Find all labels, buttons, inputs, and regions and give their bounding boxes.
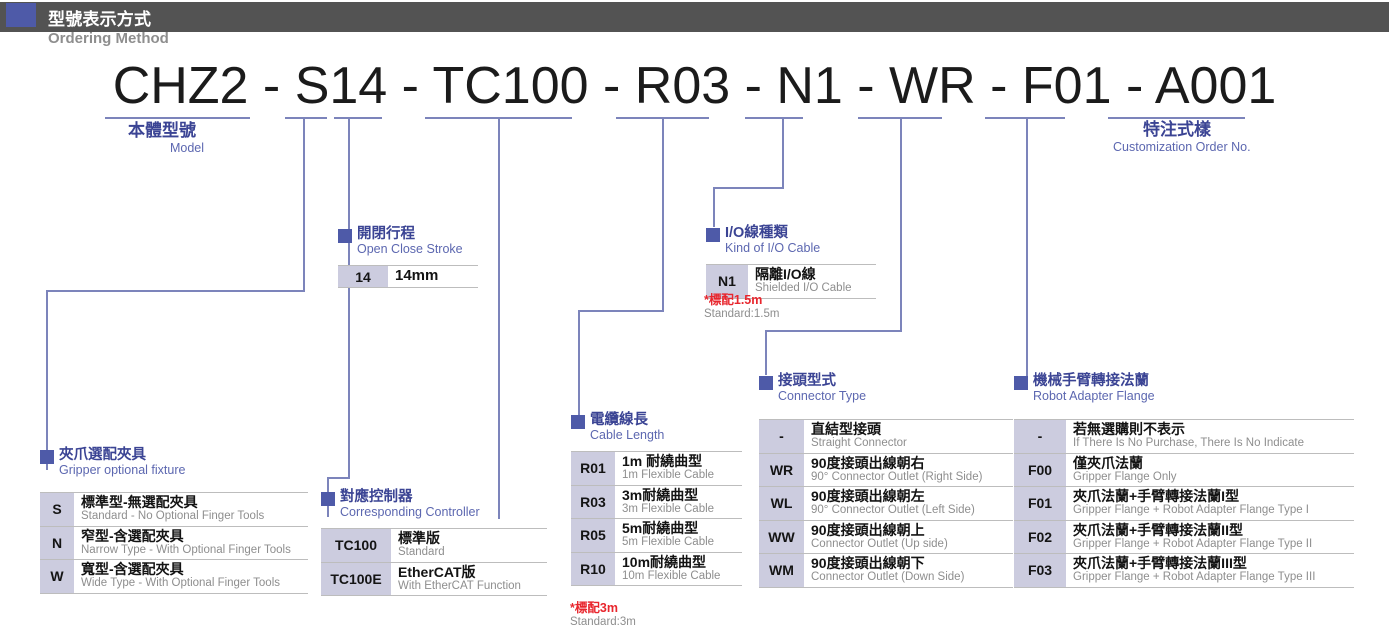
callout-cable-title-zh: 電纜線長 [590,413,664,428]
section-header-bar [0,2,1389,32]
cable-desc-1: 3m耐繞曲型 3m Flexible Cable [615,485,742,519]
table-row: WL 90度接頭出線朝左 90° Connector Outlet (Left … [759,487,1013,521]
gripper-desc-2: 寬型-含選配夾具 Wide Type - With Optional Finge… [74,560,308,594]
cable-desc-en-2: 5m Flexible Cable [622,536,737,548]
table-row: R10 10m耐繞曲型 10m Flexible Cable [571,552,742,586]
table-cable-body: R01 1m 耐繞曲型 1m Flexible Cable R03 3m耐繞曲型… [571,452,742,586]
connector-desc-en-4: Connector Outlet (Down Side) [811,571,1008,583]
table-gripper-fixture: S 標準型-無選配夾具 Standard - No Optional Finge… [40,492,308,594]
flange-desc-en-0: If There Is No Purchase, There Is No Ind… [1073,437,1349,449]
leader-tc100-v [498,117,500,519]
flange-code-4: F03 [1014,554,1066,588]
callout-connector-type: 接頭型式 Connector Type [759,374,866,404]
gripper-code-0: S [40,493,74,527]
bullet-square-icon [571,415,585,429]
leader-14-v [348,117,350,235]
leader-f01-v [1026,117,1028,380]
table-row: R05 5m耐繞曲型 5m Flexible Cable [571,519,742,553]
controller-code-1: TC100E [321,562,391,596]
io-desc-zh-0: 隔離I/O線 [755,267,871,282]
table-row: TC100 標準版 Standard [321,529,547,563]
table-row: WR 90度接頭出線朝右 90° Connector Outlet (Right… [759,453,1013,487]
bullet-square-icon [338,229,352,243]
leader-n1-v2 [713,187,715,227]
leader-n1-h [713,187,784,189]
callout-connector-title-en: Connector Type [778,389,866,404]
flange-desc-en-2: Gripper Flange + Robot Adapter Flange Ty… [1073,504,1349,516]
table-connector-body: - 直結型接頭 Straight Connector WR 90度接頭出線朝右 … [759,420,1013,588]
cable-code-2: R05 [571,519,615,553]
table-controller: TC100 標準版 Standard TC100E EtherCAT版 With… [321,528,547,596]
table-row: N 窄型-含選配夾具 Narrow Type - With Optional F… [40,526,308,560]
connector-desc-zh-3: 90度接頭出線朝上 [811,523,1008,538]
bullet-square-icon [321,492,335,506]
callout-io-cable: I/O線種類 Kind of I/O Cable [706,226,820,256]
connector-desc-2: 90度接頭出線朝左 90° Connector Outlet (Left Sid… [804,487,1013,521]
table-connector-type: - 直結型接頭 Straight Connector WR 90度接頭出線朝右 … [759,419,1013,588]
flange-desc-zh-3: 夾爪法蘭+手臂轉接法蘭II型 [1073,523,1349,538]
stroke-desc-0: 14mm [388,266,478,288]
bullet-square-icon [706,228,720,242]
cable-desc-3: 10m耐繞曲型 10m Flexible Cable [615,552,742,586]
cable-desc-en-0: 1m Flexible Cable [622,469,737,481]
stroke-code-0: 14 [338,266,388,288]
controller-desc-0: 標準版 Standard [391,529,547,563]
table-row: S 標準型-無選配夾具 Standard - No Optional Finge… [40,493,308,527]
table-row: F02 夾爪法蘭+手臂轉接法蘭II型 Gripper Flange + Robo… [1014,520,1354,554]
controller-desc-en-1: With EtherCAT Function [398,580,542,592]
flange-desc-1: 僅夾爪法蘭 Gripper Flange Only [1066,453,1354,487]
leader-r03-v2 [578,310,580,415]
cable-desc-en-3: 10m Flexible Cable [622,570,737,582]
table-row: R03 3m耐繞曲型 3m Flexible Cable [571,485,742,519]
callout-cable-length: 電纜線長 Cable Length [571,413,664,443]
flange-code-2: F01 [1014,487,1066,521]
page-title-zh: 型號表示方式 [48,10,151,29]
connector-desc-3: 90度接頭出線朝上 Connector Outlet (Up side) [804,520,1013,554]
bullet-square-icon [759,376,773,390]
callout-io-title-zh: I/O線種類 [725,226,820,241]
cable-desc-zh-2: 5m耐繞曲型 [622,521,737,536]
callout-stroke-title-zh: 開閉行程 [357,227,463,242]
gripper-desc-en-1: Narrow Type - With Optional Finger Tools [81,544,303,556]
flange-desc-zh-4: 夾爪法蘭+手臂轉接法蘭III型 [1073,556,1349,571]
callout-io-title-en: Kind of I/O Cable [725,241,820,256]
note-io-zh: *標配1.5m [704,293,779,307]
flange-desc-en-1: Gripper Flange Only [1073,471,1349,483]
leader-chz2-h [46,290,305,292]
table-row: F00 僅夾爪法蘭 Gripper Flange Only [1014,453,1354,487]
controller-desc-en-0: Standard [398,546,542,558]
leader-chz2-v2 [46,290,48,470]
leader-r03-v1 [662,117,664,312]
callout-gripper-title-zh: 夾爪選配夾具 [59,448,185,463]
callout-cable-title-en: Cable Length [590,428,664,443]
gripper-desc-zh-0: 標準型-無選配夾具 [81,495,303,510]
flange-desc-en-4: Gripper Flange + Robot Adapter Flange Ty… [1073,571,1349,583]
table-row: - 若無選購則不表示 If There Is No Purchase, Ther… [1014,420,1354,454]
underline-a001 [1108,117,1245,119]
callout-connector-title-zh: 接頭型式 [778,374,866,389]
gripper-desc-zh-2: 寬型-含選配夾具 [81,562,303,577]
leader-n1-v1 [782,117,784,189]
flange-desc-0: 若無選購則不表示 If There Is No Purchase, There … [1066,420,1354,454]
cable-desc-zh-1: 3m耐繞曲型 [622,488,737,503]
callout-open-close-stroke: 開閉行程 Open Close Stroke [338,227,463,257]
gripper-desc-en-0: Standard - No Optional Finger Tools [81,510,303,522]
controller-desc-1: EtherCAT版 With EtherCAT Function [391,562,547,596]
flange-code-1: F00 [1014,453,1066,487]
connector-desc-en-2: 90° Connector Outlet (Left Side) [811,504,1008,516]
ordering-method-page: 型號表示方式 Ordering Method CHZ2 - S14 - TC10… [0,0,1389,641]
callout-stroke-title-en: Open Close Stroke [357,242,463,257]
flange-desc-zh-0: 若無選購則不表示 [1073,422,1349,437]
table-row: R01 1m 耐繞曲型 1m Flexible Cable [571,452,742,486]
note-cable-zh: *標配3m [570,601,636,615]
table-row: W 寬型-含選配夾具 Wide Type - With Optional Fin… [40,560,308,594]
note-cable-en: Standard:3m [570,615,636,629]
connector-code-4: WM [759,554,804,588]
cable-desc-zh-0: 1m 耐繞曲型 [622,454,737,469]
connector-desc-1: 90度接頭出線朝右 90° Connector Outlet (Right Si… [804,453,1013,487]
callout-model: 本體型號 Model [128,121,246,156]
cable-desc-en-1: 3m Flexible Cable [622,503,737,515]
note-io-cable: *標配1.5m Standard:1.5m [704,293,779,321]
page-title: 型號表示方式 Ordering Method [48,5,169,47]
callout-flange-title-en: Robot Adapter Flange [1033,389,1155,404]
gripper-desc-en-2: Wide Type - With Optional Finger Tools [81,577,303,589]
page-title-en: Ordering Method [48,30,169,47]
gripper-code-1: N [40,526,74,560]
underline-s [285,117,327,119]
connector-desc-zh-1: 90度接頭出線朝右 [811,456,1008,471]
connector-desc-en-1: 90° Connector Outlet (Right Side) [811,471,1008,483]
connector-desc-zh-4: 90度接頭出線朝下 [811,556,1008,571]
table-row: WW 90度接頭出線朝上 Connector Outlet (Up side) [759,520,1013,554]
cable-code-0: R01 [571,452,615,486]
gripper-code-2: W [40,560,74,594]
flange-desc-2: 夾爪法蘭+手臂轉接法蘭I型 Gripper Flange + Robot Ada… [1066,487,1354,521]
callout-customization-title-zh: 特注式樣 [1113,120,1241,140]
flange-desc-4: 夾爪法蘭+手臂轉接法蘭III型 Gripper Flange + Robot A… [1066,554,1354,588]
table-row: F01 夾爪法蘭+手臂轉接法蘭I型 Gripper Flange + Robot… [1014,487,1354,521]
flange-code-3: F02 [1014,520,1066,554]
underline-n1 [745,117,803,119]
callout-gripper-fixture: 夾爪選配夾具 Gripper optional fixture [40,448,185,478]
connector-code-2: WL [759,487,804,521]
callout-robot-adapter-flange: 機械手臂轉接法蘭 Robot Adapter Flange [1014,374,1155,404]
connector-desc-zh-2: 90度接頭出線朝左 [811,489,1008,504]
cable-code-1: R03 [571,485,615,519]
connector-desc-zh-0: 直結型接頭 [811,422,1008,437]
table-row: WM 90度接頭出線朝下 Connector Outlet (Down Side… [759,554,1013,588]
leader-wr-h [765,330,902,332]
underline-chz2 [105,117,250,119]
controller-desc-zh-1: EtherCAT版 [398,565,542,580]
leader-chz2-v1 [303,117,305,292]
cable-desc-2: 5m耐繞曲型 5m Flexible Cable [615,519,742,553]
table-open-close-stroke: 14 14mm [338,265,478,288]
table-stroke-body: 14 14mm [338,266,478,288]
leader-wr-v2 [765,330,767,375]
callout-controller: 對應控制器 Corresponding Controller [321,490,480,520]
callout-gripper-title-en: Gripper optional fixture [59,463,185,478]
underline-14 [334,117,382,119]
connector-desc-0: 直結型接頭 Straight Connector [804,420,1013,454]
flange-desc-zh-1: 僅夾爪法蘭 [1073,456,1349,471]
table-cable-length: R01 1m 耐繞曲型 1m Flexible Cable R03 3m耐繞曲型… [571,451,742,586]
table-controller-body: TC100 標準版 Standard TC100E EtherCAT版 With… [321,529,547,596]
table-flange-body: - 若無選購則不表示 If There Is No Purchase, Ther… [1014,420,1354,588]
flange-desc-en-3: Gripper Flange + Robot Adapter Flange Ty… [1073,538,1349,550]
callout-model-title-en: Model [128,141,246,156]
bullet-square-icon [40,450,54,464]
callout-controller-title-zh: 對應控制器 [340,490,480,505]
flange-code-0: - [1014,420,1066,454]
underline-f01 [985,117,1065,119]
connector-desc-en-3: Connector Outlet (Up side) [811,538,1008,550]
header-accent-square [6,3,36,27]
callout-flange-title-zh: 機械手臂轉接法蘭 [1033,374,1155,389]
bullet-square-icon [1014,376,1028,390]
table-row: F03 夾爪法蘭+手臂轉接法蘭III型 Gripper Flange + Rob… [1014,554,1354,588]
note-cable-length: *標配3m Standard:3m [570,601,636,629]
flange-desc-zh-2: 夾爪法蘭+手臂轉接法蘭I型 [1073,489,1349,504]
gripper-desc-0: 標準型-無選配夾具 Standard - No Optional Finger … [74,493,308,527]
leader-wr-v1 [900,117,902,332]
connector-code-3: WW [759,520,804,554]
cable-desc-0: 1m 耐繞曲型 1m Flexible Cable [615,452,742,486]
cable-desc-zh-3: 10m耐繞曲型 [622,555,737,570]
flange-desc-3: 夾爪法蘭+手臂轉接法蘭II型 Gripper Flange + Robot Ad… [1066,520,1354,554]
callout-controller-title-en: Corresponding Controller [340,505,480,520]
gripper-desc-zh-1: 窄型-含選配夾具 [81,529,303,544]
leader-s-h [327,477,350,479]
callout-customization-title-en: Customization Order No. [1113,140,1241,155]
connector-code-1: WR [759,453,804,487]
gripper-desc-1: 窄型-含選配夾具 Narrow Type - With Optional Fin… [74,526,308,560]
connector-desc-4: 90度接頭出線朝下 Connector Outlet (Down Side) [804,554,1013,588]
controller-desc-zh-0: 標準版 [398,531,542,546]
callout-model-title-zh: 本體型號 [128,121,246,141]
controller-code-0: TC100 [321,529,391,563]
model-code: CHZ2 - S14 - TC100 - R03 - N1 - WR - F01… [0,56,1389,116]
callout-customization: 特注式樣 Customization Order No. [1113,120,1241,155]
table-row: - 直結型接頭 Straight Connector [759,420,1013,454]
table-row: 14 14mm [338,266,478,288]
table-gripper-body: S 標準型-無選配夾具 Standard - No Optional Finge… [40,493,308,594]
connector-code-0: - [759,420,804,454]
leader-r03-h [578,310,664,312]
table-robot-adapter-flange: - 若無選購則不表示 If There Is No Purchase, Ther… [1014,419,1354,588]
table-row: TC100E EtherCAT版 With EtherCAT Function [321,562,547,596]
cable-code-3: R10 [571,552,615,586]
note-io-en: Standard:1.5m [704,307,779,321]
connector-desc-en-0: Straight Connector [811,437,1008,449]
